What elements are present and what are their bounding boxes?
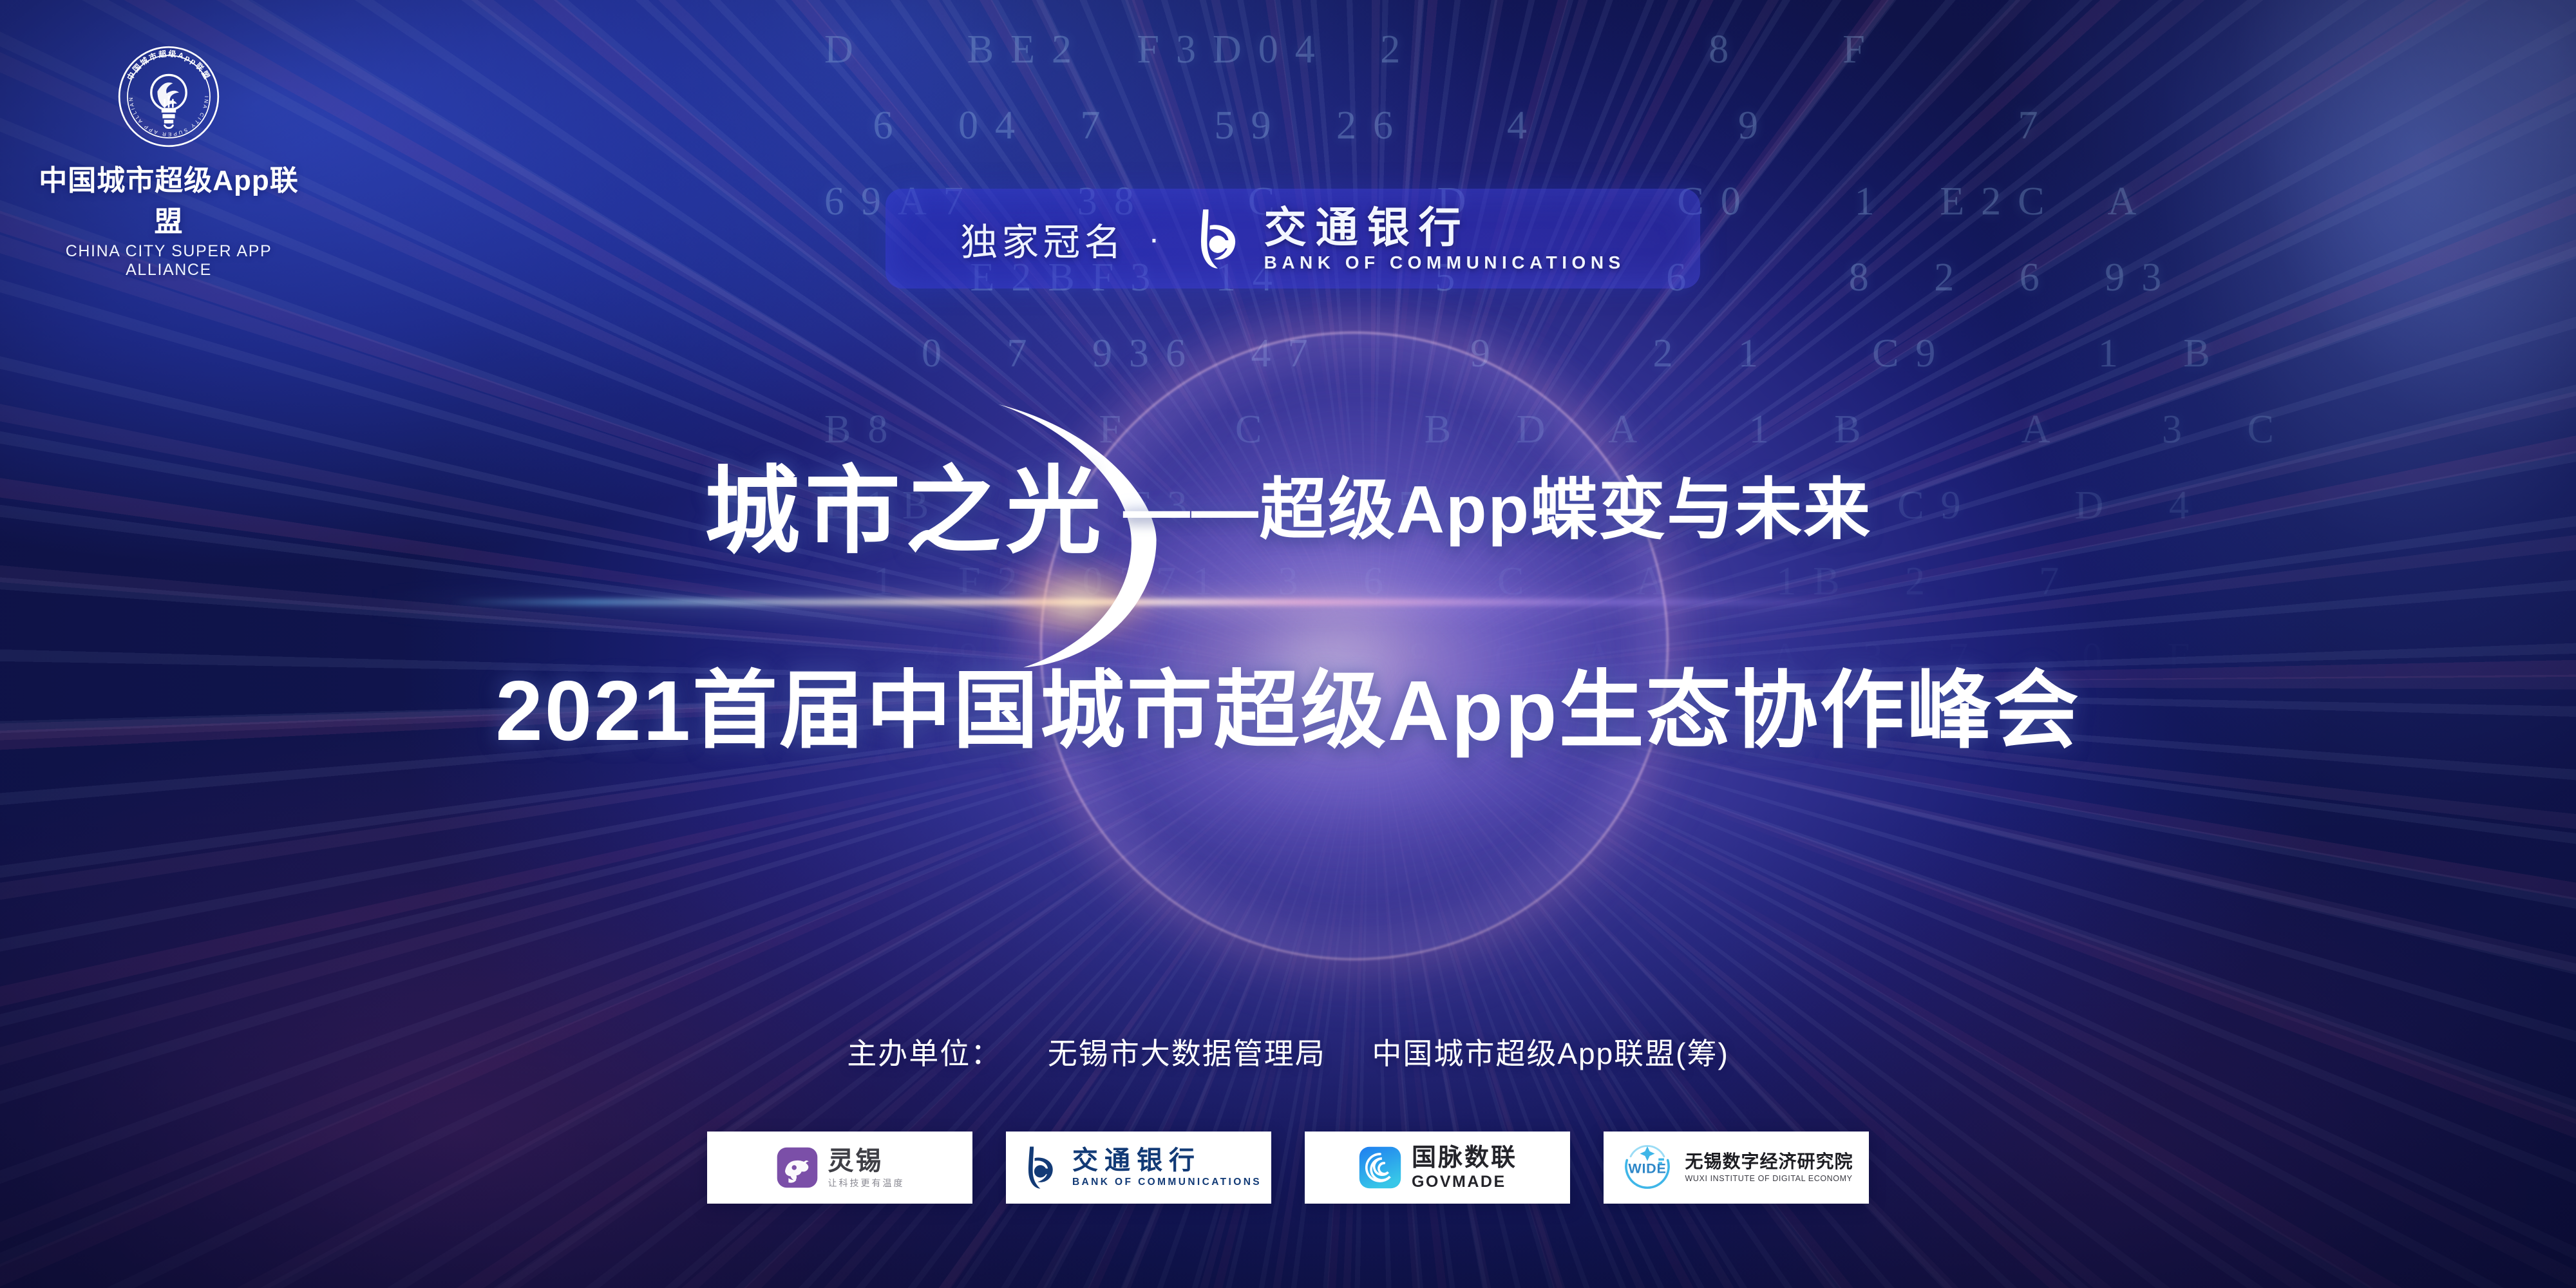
sponsor-separator: · [1148, 220, 1159, 258]
bank-of-communications-icon [1016, 1144, 1063, 1191]
partner-card-govmade[interactable]: 国脉数联 GOVMADE [1305, 1132, 1570, 1204]
bank-of-communications-icon [1183, 205, 1250, 272]
partner-name-cn: 无锡数字经济研究院 [1685, 1153, 1853, 1171]
partner-name-en: BANK OF COMMUNICATIONS [1072, 1177, 1262, 1188]
partner-name-en: WUXI INSTITUTE OF DIGITAL ECONOMY [1685, 1175, 1853, 1183]
alliance-name-cn: 中国城市超级App联盟 [33, 157, 304, 240]
sponsor-label: 独家冠名 [960, 212, 1125, 266]
svg-text:中国城市超级App联盟: 中国城市超级App联盟 [125, 48, 213, 82]
title-sponsor-banner: 独家冠名 · 交通银行 BANK OF COMMUNICATIONS [885, 189, 1700, 289]
alliance-lockup: 中国城市超级App联盟 CHINA CITY SUPER APP ALLIANC… [33, 45, 304, 279]
main-subtitle: ——超级App蝶变与未来 [1123, 477, 1871, 547]
event-poster: D BE2 F3D04 2 8 F 6 04 7 59 26 4 9 769A7… [0, 0, 2576, 1288]
sponsor-brand-cn: 交通银行 [1264, 206, 1470, 249]
sponsor-brand-lockup: 交通银行 BANK OF COMMUNICATIONS [1183, 205, 1625, 272]
alliance-name-en: CHINA CITY SUPER APP ALLIANCE [33, 242, 304, 279]
partner-card-bank-of-communications[interactable]: 交通银行 BANK OF COMMUNICATIONS [1006, 1132, 1271, 1204]
partner-name-en: GOVMADE [1412, 1174, 1517, 1190]
govmade-swirl-icon [1358, 1145, 1403, 1190]
partner-card-lingxi[interactable]: 灵锡 让科技更有温度 [707, 1132, 972, 1204]
lingxi-rhino-icon [775, 1146, 819, 1189]
partner-tagline: 让科技更有温度 [828, 1179, 905, 1188]
main-title-row: 城市之光 ——超级App蝶变与未来 [0, 451, 2576, 573]
organizer-item-0: 无锡市大数据管理局 [1048, 1037, 1326, 1070]
lightbulb-seal-icon: 中国城市超级App联盟 CHINA CITY SUPER APP ALLIANC… [117, 45, 220, 148]
partner-name-cn: 交通银行 [1072, 1148, 1262, 1173]
wide-institute-icon: WIDE [1619, 1144, 1676, 1191]
partner-name-cn: 灵锡 [828, 1148, 905, 1174]
organizers-label: 主办单位： [847, 1037, 1001, 1070]
main-title: 城市之光 [705, 464, 1106, 560]
organizer-item-1: 中国城市超级App联盟(筹) [1372, 1037, 1728, 1070]
sponsor-brand-en: BANK OF COMMUNICATIONS [1264, 254, 1625, 272]
partner-card-wide[interactable]: WIDE 无锡数字经济研究院 WUXI INSTITUTE OF DIGITAL… [1604, 1132, 1869, 1204]
summit-title: 2021首届中国城市超级App生态协作峰会 [0, 660, 2576, 762]
partner-name-cn: 国脉数联 [1412, 1146, 1517, 1170]
partner-logo-strip: 灵锡 让科技更有温度 交通银行 BANK OF COMMUNICATI [0, 1132, 2576, 1204]
organizers-line: 主办单位： 无锡市大数据管理局 中国城市超级App联盟(筹) [0, 1030, 2576, 1073]
